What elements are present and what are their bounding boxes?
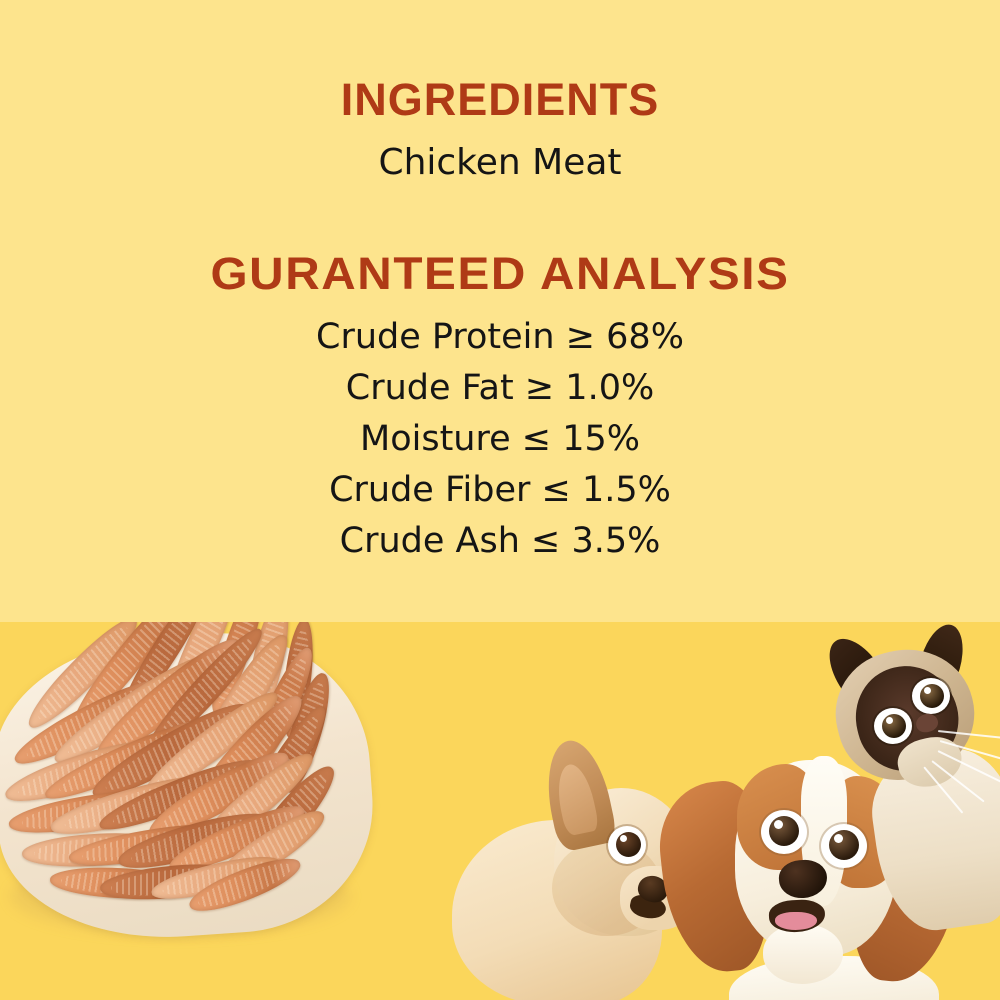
spaniel-tongue <box>775 912 817 930</box>
cat-left-eye-glint <box>886 717 893 724</box>
guaranteed-analysis-list: Crude Protein ≥ 68% Crude Fat ≥ 1.0% Moi… <box>0 312 1000 567</box>
chicken-jerky-photo <box>0 622 402 950</box>
product-info-panel: INGREDIENTS Chicken Meat GURANTEED ANALY… <box>0 0 1000 1000</box>
product-photo-strip: chihuahua-dog-head-profile cavalier-span… <box>0 622 1000 1000</box>
analysis-row-crude-protein: Crude Protein ≥ 68% <box>0 312 1000 363</box>
spaniel-chin <box>763 924 843 984</box>
guaranteed-analysis-heading: GURANTEED ANALYSIS <box>0 248 1000 300</box>
ingredients-value: Chicken Meat <box>0 142 1000 183</box>
analysis-row-crude-fat: Crude Fat ≥ 1.0% <box>0 363 1000 414</box>
spaniel-left-pupil <box>769 816 799 846</box>
nutrition-text-panel: INGREDIENTS Chicken Meat GURANTEED ANALY… <box>0 0 1000 622</box>
analysis-row-crude-ash: Crude Ash ≤ 3.5% <box>0 516 1000 567</box>
spaniel-left-eye-glint <box>774 820 783 829</box>
analysis-row-crude-fiber: Crude Fiber ≤ 1.5% <box>0 465 1000 516</box>
ingredients-heading: INGREDIENTS <box>0 74 1000 126</box>
cat-right-eye-glint <box>924 687 931 694</box>
himalayan-cat-photo: himalayan-cat-face-tilted <box>820 622 1000 914</box>
chihuahua-eye-glint <box>620 835 627 842</box>
analysis-row-moisture: Moisture ≤ 15% <box>0 414 1000 465</box>
